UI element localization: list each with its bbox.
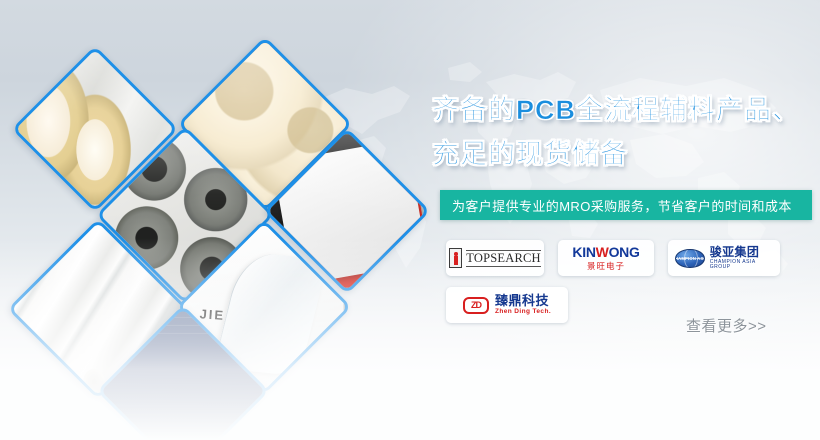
- champion-asia-lockup: CHAMPION ASIA 骏亚集团 CHAMPION ASIA GROUP: [675, 246, 773, 270]
- partner-logo-topsearch[interactable]: TOPSEARCH: [446, 240, 544, 276]
- tile-art-jie-label: JIE: [199, 306, 225, 323]
- page-title: 齐备的PCB全流程辅料产品、 充足的现货储备: [432, 88, 812, 176]
- partner-logo-row-1: TOPSEARCH KINWONG 景旺电子 CHAMPION ASIA: [446, 240, 812, 276]
- partner-logo-champion-asia[interactable]: CHAMPION ASIA 骏亚集团 CHAMPION ASIA GROUP: [668, 240, 780, 276]
- partner-logo-kinwong[interactable]: KINWONG 景旺电子: [558, 240, 654, 276]
- zhen-ding-lockup: ZD 臻鼎科技 Zhen Ding Tech.: [463, 294, 551, 316]
- globe-icon: CHAMPION ASIA: [675, 249, 705, 268]
- kinwong-w-icon: W: [596, 244, 609, 260]
- topsearch-mark-icon: [449, 248, 462, 268]
- champion-asia-text: 骏亚集团 CHAMPION ASIA GROUP: [710, 246, 773, 270]
- topsearch-wordmark: TOPSEARCH: [466, 250, 541, 267]
- zhen-ding-chinese-name: 臻鼎科技: [495, 294, 551, 307]
- headline-line-2: 充足的现货储备: [432, 132, 812, 176]
- subtitle-bar: 为客户提供专业的MRO采购服务，节省客户的时间和成本: [440, 190, 812, 220]
- topsearch-lockup: TOPSEARCH: [449, 248, 541, 268]
- zhen-ding-english-name: Zhen Ding Tech.: [495, 309, 551, 316]
- kinwong-lockup: KINWONG 景旺电子: [572, 245, 639, 271]
- view-more-link[interactable]: 查看更多>>: [686, 315, 767, 336]
- zhen-ding-monogram-text: ZD: [471, 300, 481, 310]
- headline-line-1: 齐备的PCB全流程辅料产品、: [432, 95, 800, 125]
- zhen-ding-text: 臻鼎科技 Zhen Ding Tech.: [495, 294, 551, 316]
- champion-asia-chinese-name: 骏亚集团: [710, 246, 773, 258]
- subtitle-text: 为客户提供专业的MRO采购服务，节省客户的时间和成本: [440, 196, 792, 215]
- kinwong-wordmark-a: KIN: [572, 244, 595, 260]
- zhen-ding-monogram-icon: ZD: [463, 297, 489, 314]
- partner-logo-zhen-ding[interactable]: ZD 臻鼎科技 Zhen Ding Tech.: [446, 287, 568, 323]
- champion-asia-english-name: CHAMPION ASIA GROUP: [710, 260, 773, 270]
- kinwong-wordmark-b: ONG: [609, 244, 640, 260]
- kinwong-wordmark: KINWONG: [572, 245, 639, 259]
- kinwong-chinese-name: 景旺电子: [572, 262, 639, 271]
- product-collage: JIE: [0, 0, 420, 440]
- globe-icon-label: CHAMPION ASIA: [675, 256, 705, 261]
- promo-banner: JIE 齐备的PCB全流程辅料产品、 充足的现货储备 为客户提供专业的MRO采购…: [0, 0, 820, 440]
